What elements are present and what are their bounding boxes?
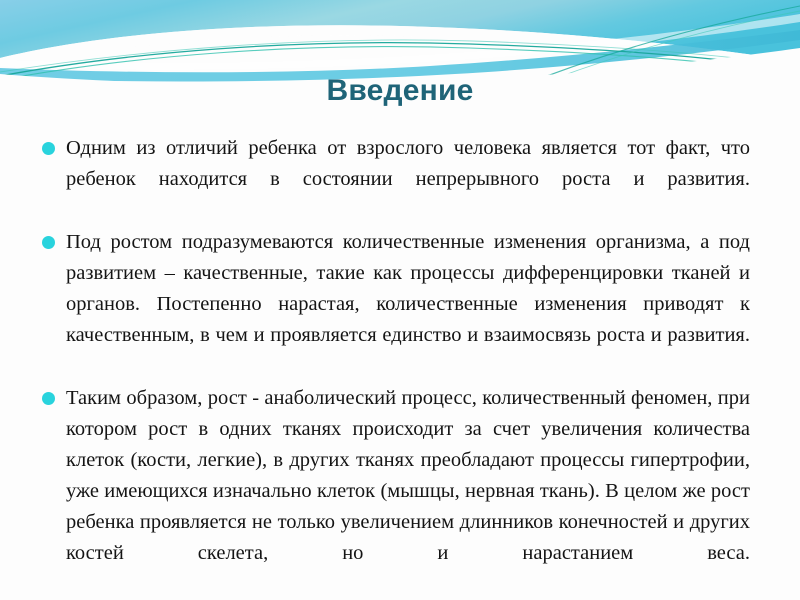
bullet-text: Под ростом подразумеваются количественны… — [66, 227, 750, 382]
page-title: Введение — [0, 74, 800, 108]
bullet-dot-icon — [42, 142, 55, 155]
list-item: Одним из отличий ребенка от взрослого че… — [38, 133, 750, 226]
bullet-dot-icon — [42, 392, 55, 405]
list-item: Под ростом подразумеваются количественны… — [38, 227, 750, 382]
bullet-text: Одним из отличий ребенка от взрослого че… — [66, 133, 750, 226]
wave-shape-primary — [0, 0, 800, 62]
bullet-dot-icon — [42, 236, 55, 249]
presentation-slide: Введение Одним из отличий ребенка от взр… — [0, 0, 800, 600]
wave-shape-highlight — [0, 14, 800, 69]
wave-shape-white-notch — [0, 25, 800, 72]
bullet-text: Таким образом, рост - анаболический проц… — [66, 383, 750, 600]
wave-accent-line-3 — [0, 40, 800, 72]
wave-accent-line-1 — [0, 43, 800, 76]
bullet-list: Одним из отличий ребенка от взрослого че… — [38, 133, 750, 600]
list-item: Таким образом, рост - анаболический проц… — [38, 383, 750, 600]
